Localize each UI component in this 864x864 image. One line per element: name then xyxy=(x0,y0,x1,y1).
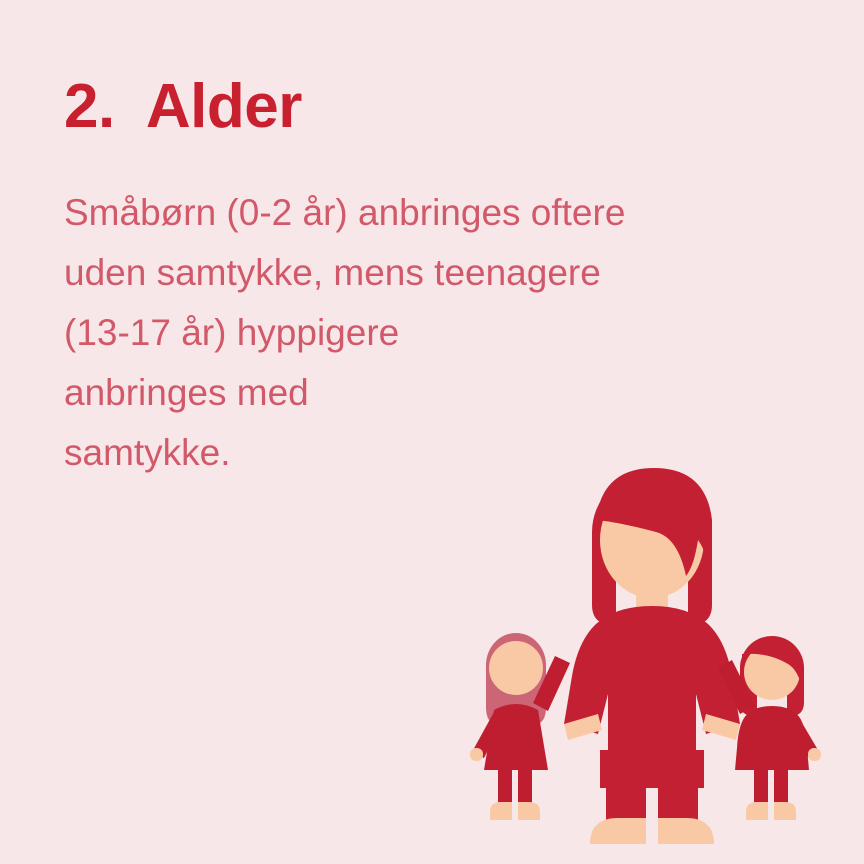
adult-torso xyxy=(564,606,740,764)
adult-figure xyxy=(564,468,740,844)
child-right-hand xyxy=(808,748,821,761)
body-text-line-1: Småbørn (0-2 år) anbringes oftere xyxy=(64,183,764,243)
adult-foot-2 xyxy=(658,818,714,844)
body-text-line-3: (13-17 år) hyppigere xyxy=(64,303,764,363)
child-left-foot-2 xyxy=(518,802,540,820)
family-of-three-icon xyxy=(440,420,864,844)
child-left-hand xyxy=(470,748,483,761)
child-left-foot-1 xyxy=(490,802,512,820)
child-left-head xyxy=(489,641,543,695)
body-text-line-4: anbringes med xyxy=(64,363,764,423)
body-text-line-2: uden samtykke, mens teenagere xyxy=(64,243,764,303)
child-left-figure xyxy=(470,633,570,820)
child-right-foot-1 xyxy=(746,802,768,820)
child-right-foot-2 xyxy=(774,802,796,820)
slide-canvas: 2. Alder Småbørn (0-2 år) anbringes ofte… xyxy=(0,0,864,864)
page-title: 2. Alder xyxy=(64,74,764,139)
adult-foot-1 xyxy=(590,818,646,844)
